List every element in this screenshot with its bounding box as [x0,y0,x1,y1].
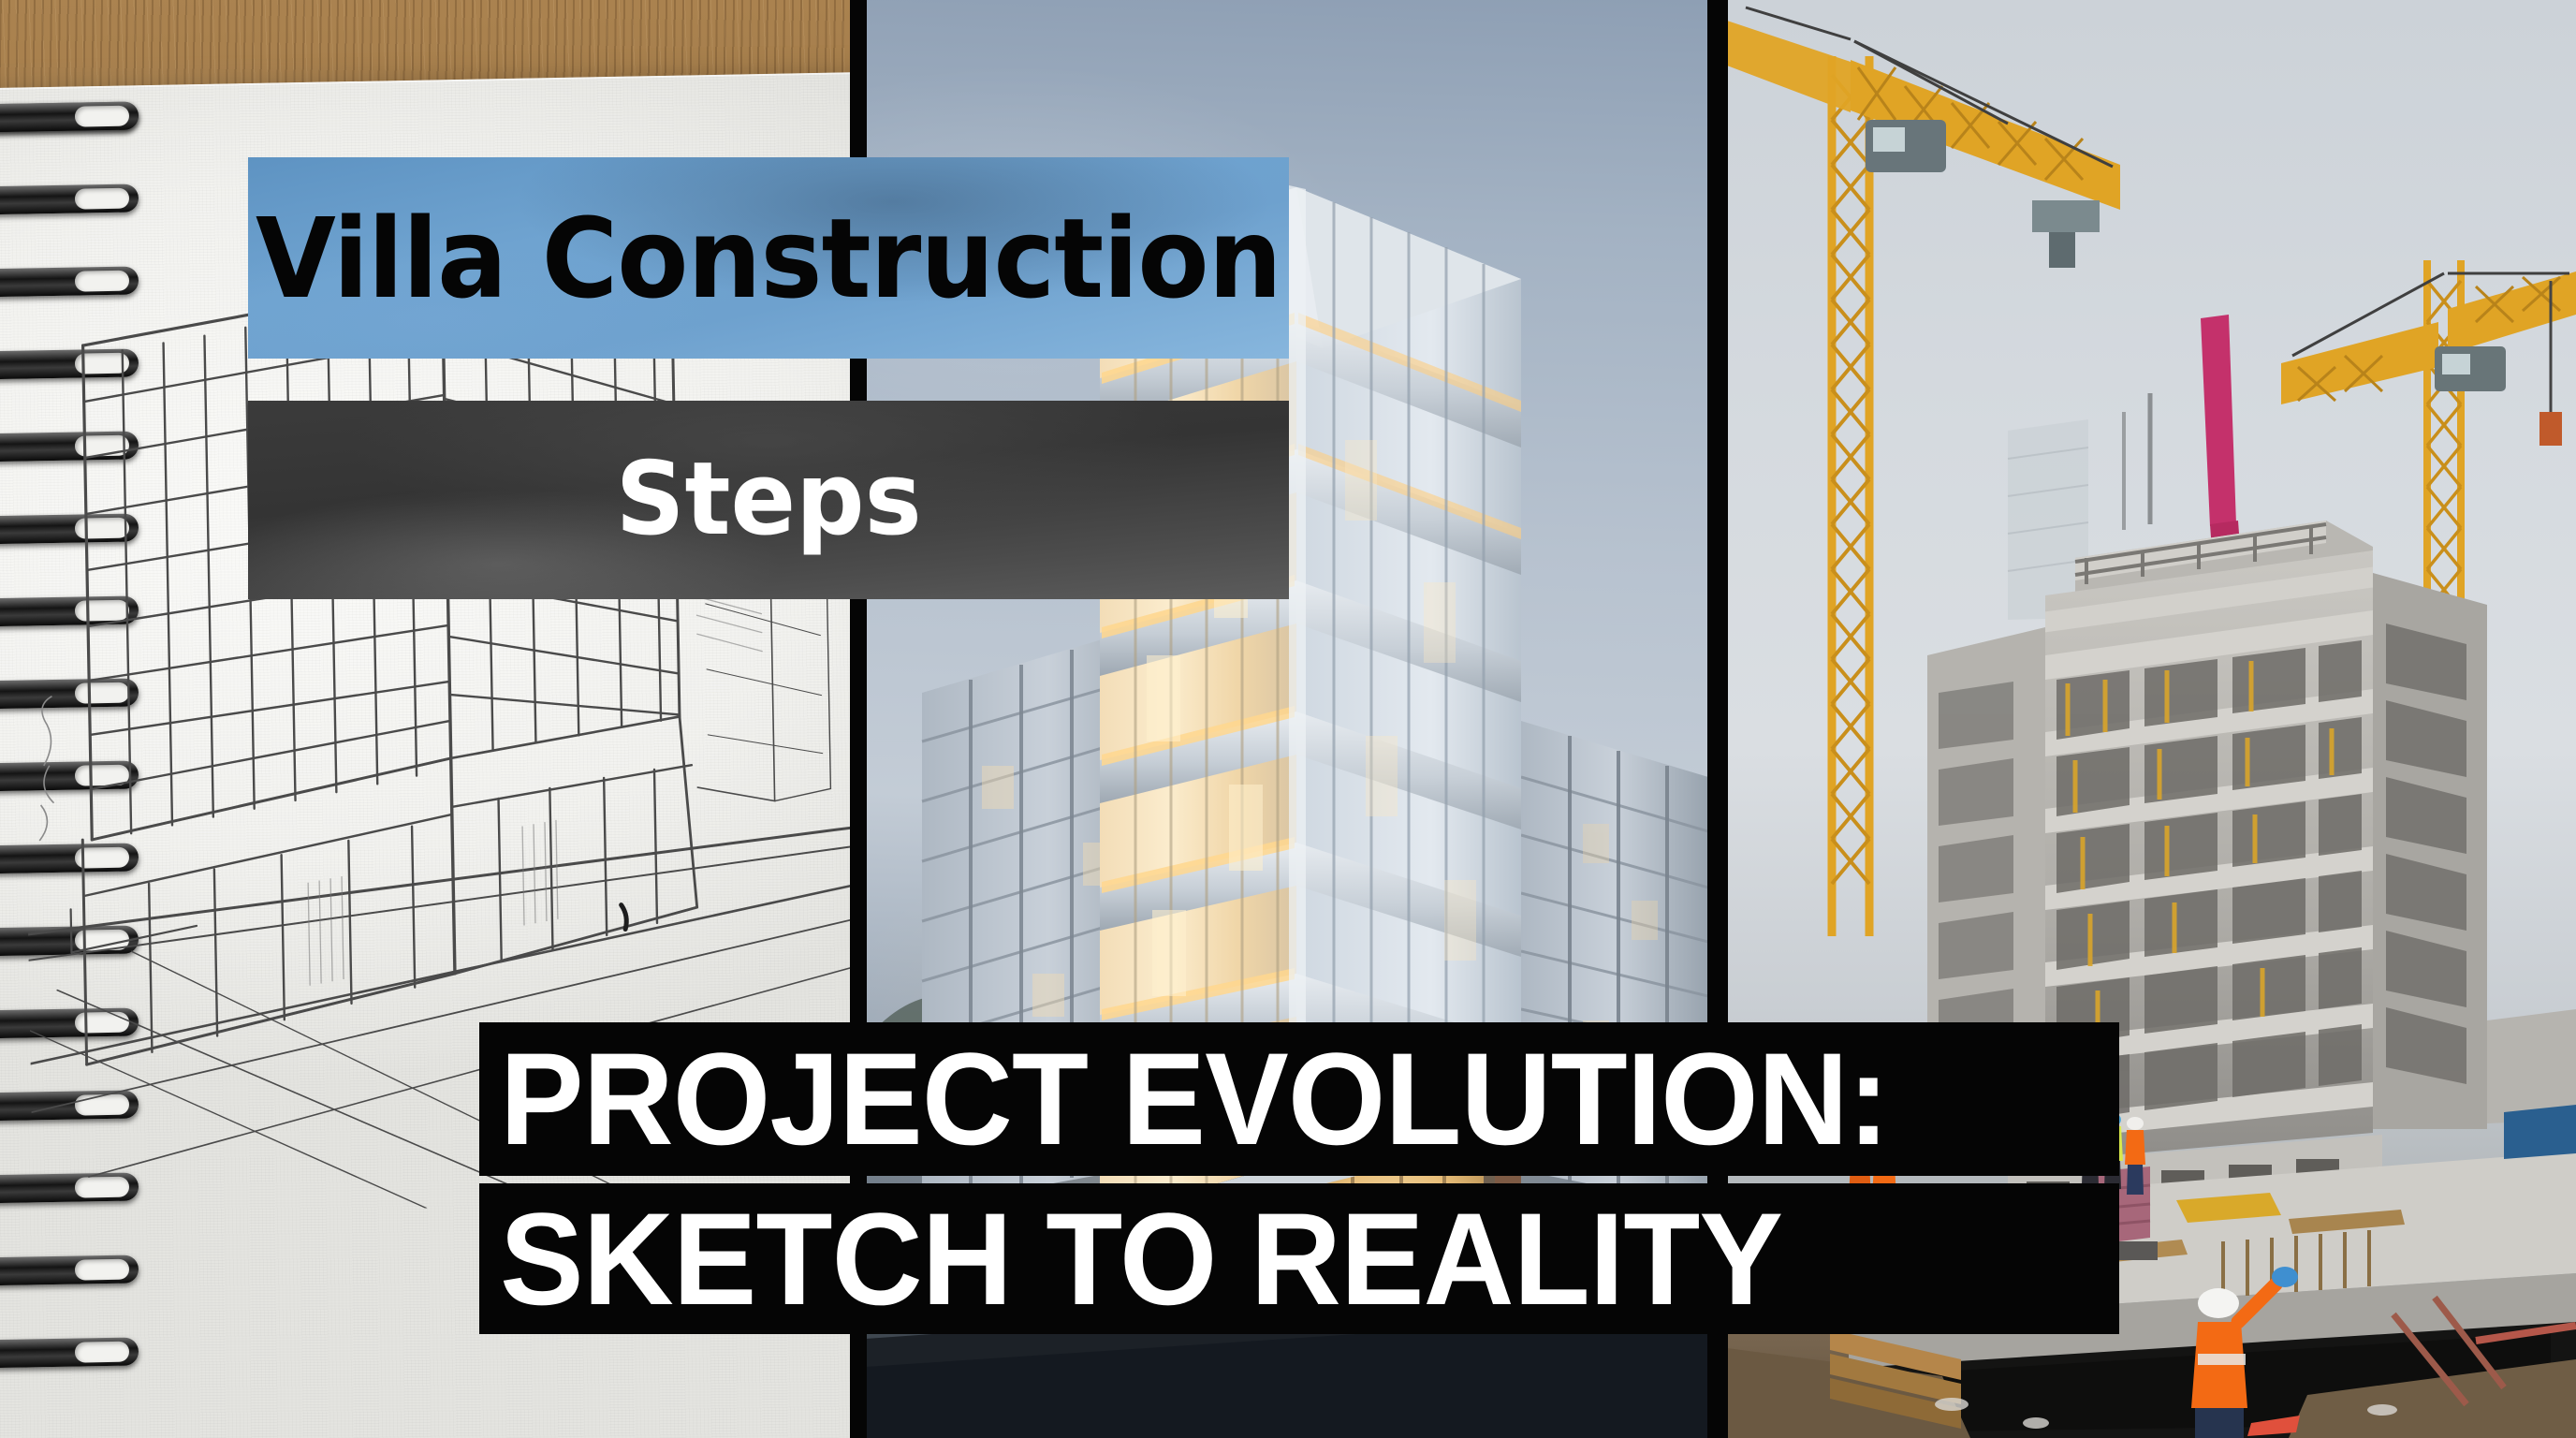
title-line-1-label: PROJECT EVOLUTION: [500,1034,1889,1165]
banner-villa-construction: Villa Construction [248,157,1289,359]
binding-ring [0,183,139,214]
title-line-1: PROJECT EVOLUTION: [479,1022,2119,1176]
title-line-2-label: SKETCH TO REALITY [500,1194,1782,1325]
banner-steps: Steps [248,401,1289,599]
thumbnail-canvas: Villa Construction Steps PROJECT EVOLUTI… [0,0,2576,1438]
banner-steps-label: Steps [615,449,921,550]
binding-ring [0,101,139,132]
binding-ring [0,1337,139,1368]
banner-villa-construction-label: Villa Construction [256,203,1281,314]
binding-ring [0,1255,139,1285]
title-line-2: SKETCH TO REALITY [479,1183,2119,1334]
